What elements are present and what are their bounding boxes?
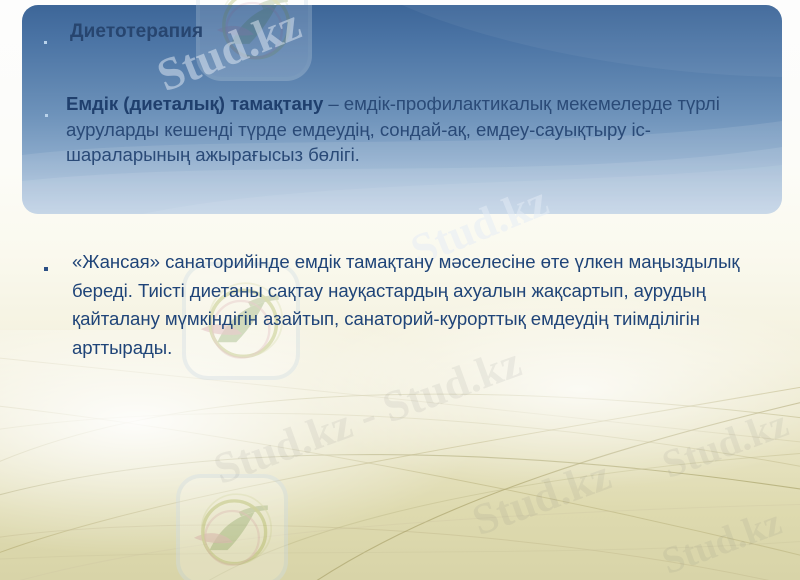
watermark-panel: Stud.kz <box>150 5 309 102</box>
bullet-dot-lower <box>44 267 48 271</box>
hummingbird-logo-panel <box>196 5 312 81</box>
content-panel: Stud.kz Диетотерапия Емдік (диеталық) та… <box>22 5 782 214</box>
hummingbird-logo-bottom <box>176 474 288 580</box>
panel-body: Емдік (диеталық) тамақтану – емдік-профи… <box>66 91 766 168</box>
bullet-dot-heading <box>44 41 47 44</box>
background-glow-left <box>0 330 500 560</box>
logo-plate <box>176 474 288 580</box>
hummingbird-glyph <box>196 5 312 81</box>
presentation-slide: Stud.kz Диетотерапия Емдік (диеталық) та… <box>0 0 800 580</box>
panel-body-lead: Емдік (диеталық) тамақтану <box>66 93 323 114</box>
bullet-dot-body <box>45 114 48 117</box>
logo-plate <box>196 5 312 81</box>
panel-heading: Диетотерапия <box>70 21 203 43</box>
watermark-text: Stud.kz <box>656 500 787 580</box>
watermark-text: Stud.kz <box>656 399 794 488</box>
watermark-text: Stud.kz <box>466 449 618 546</box>
lower-paragraph: «Жансая» санаторийінде емдік тамақтану м… <box>72 248 742 362</box>
